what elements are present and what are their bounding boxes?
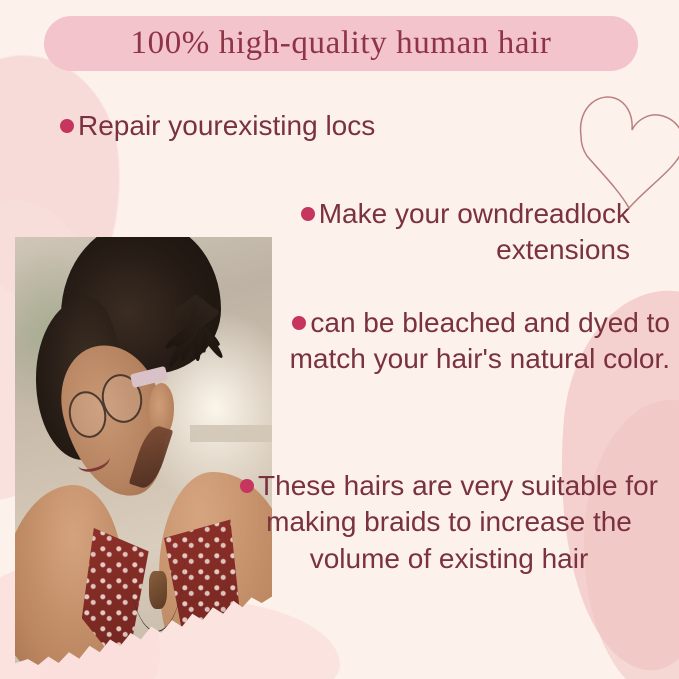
bullet-dot-icon [301,207,315,221]
bullet-text-dreadlock-extensions: Make your owndreadlock extensions [319,198,630,265]
bullet-item-bleached-dyed: can be bleached and dyed to match your h… [255,305,670,378]
bullet-dot-icon [240,479,254,493]
bullet-item-braids-volume: These hairs are very suitable for making… [225,468,673,577]
product-photo [15,237,272,665]
bullet-item-repair-locs: Repair yourexisting locs [60,108,580,144]
bullet-item-dreadlock-extensions: Make your owndreadlock extensions [200,196,630,269]
heart-doodle-icon [571,86,679,211]
infographic-canvas: 100% high-quality human hair Repair your… [0,0,679,679]
bullet-text-repair-locs: Repair yourexisting locs [78,110,375,141]
bullet-dot-icon [60,119,74,133]
bullet-text-braids-volume: These hairs are very suitable for making… [258,470,658,574]
bullet-text-bleached-dyed: can be bleached and dyed to match your h… [290,307,670,374]
headline-banner: 100% high-quality human hair [44,16,638,71]
photo-pendant [149,571,167,610]
headline-text: 100% high-quality human hair [131,25,552,62]
bullet-dot-icon [292,316,306,330]
photo-image [15,237,272,665]
